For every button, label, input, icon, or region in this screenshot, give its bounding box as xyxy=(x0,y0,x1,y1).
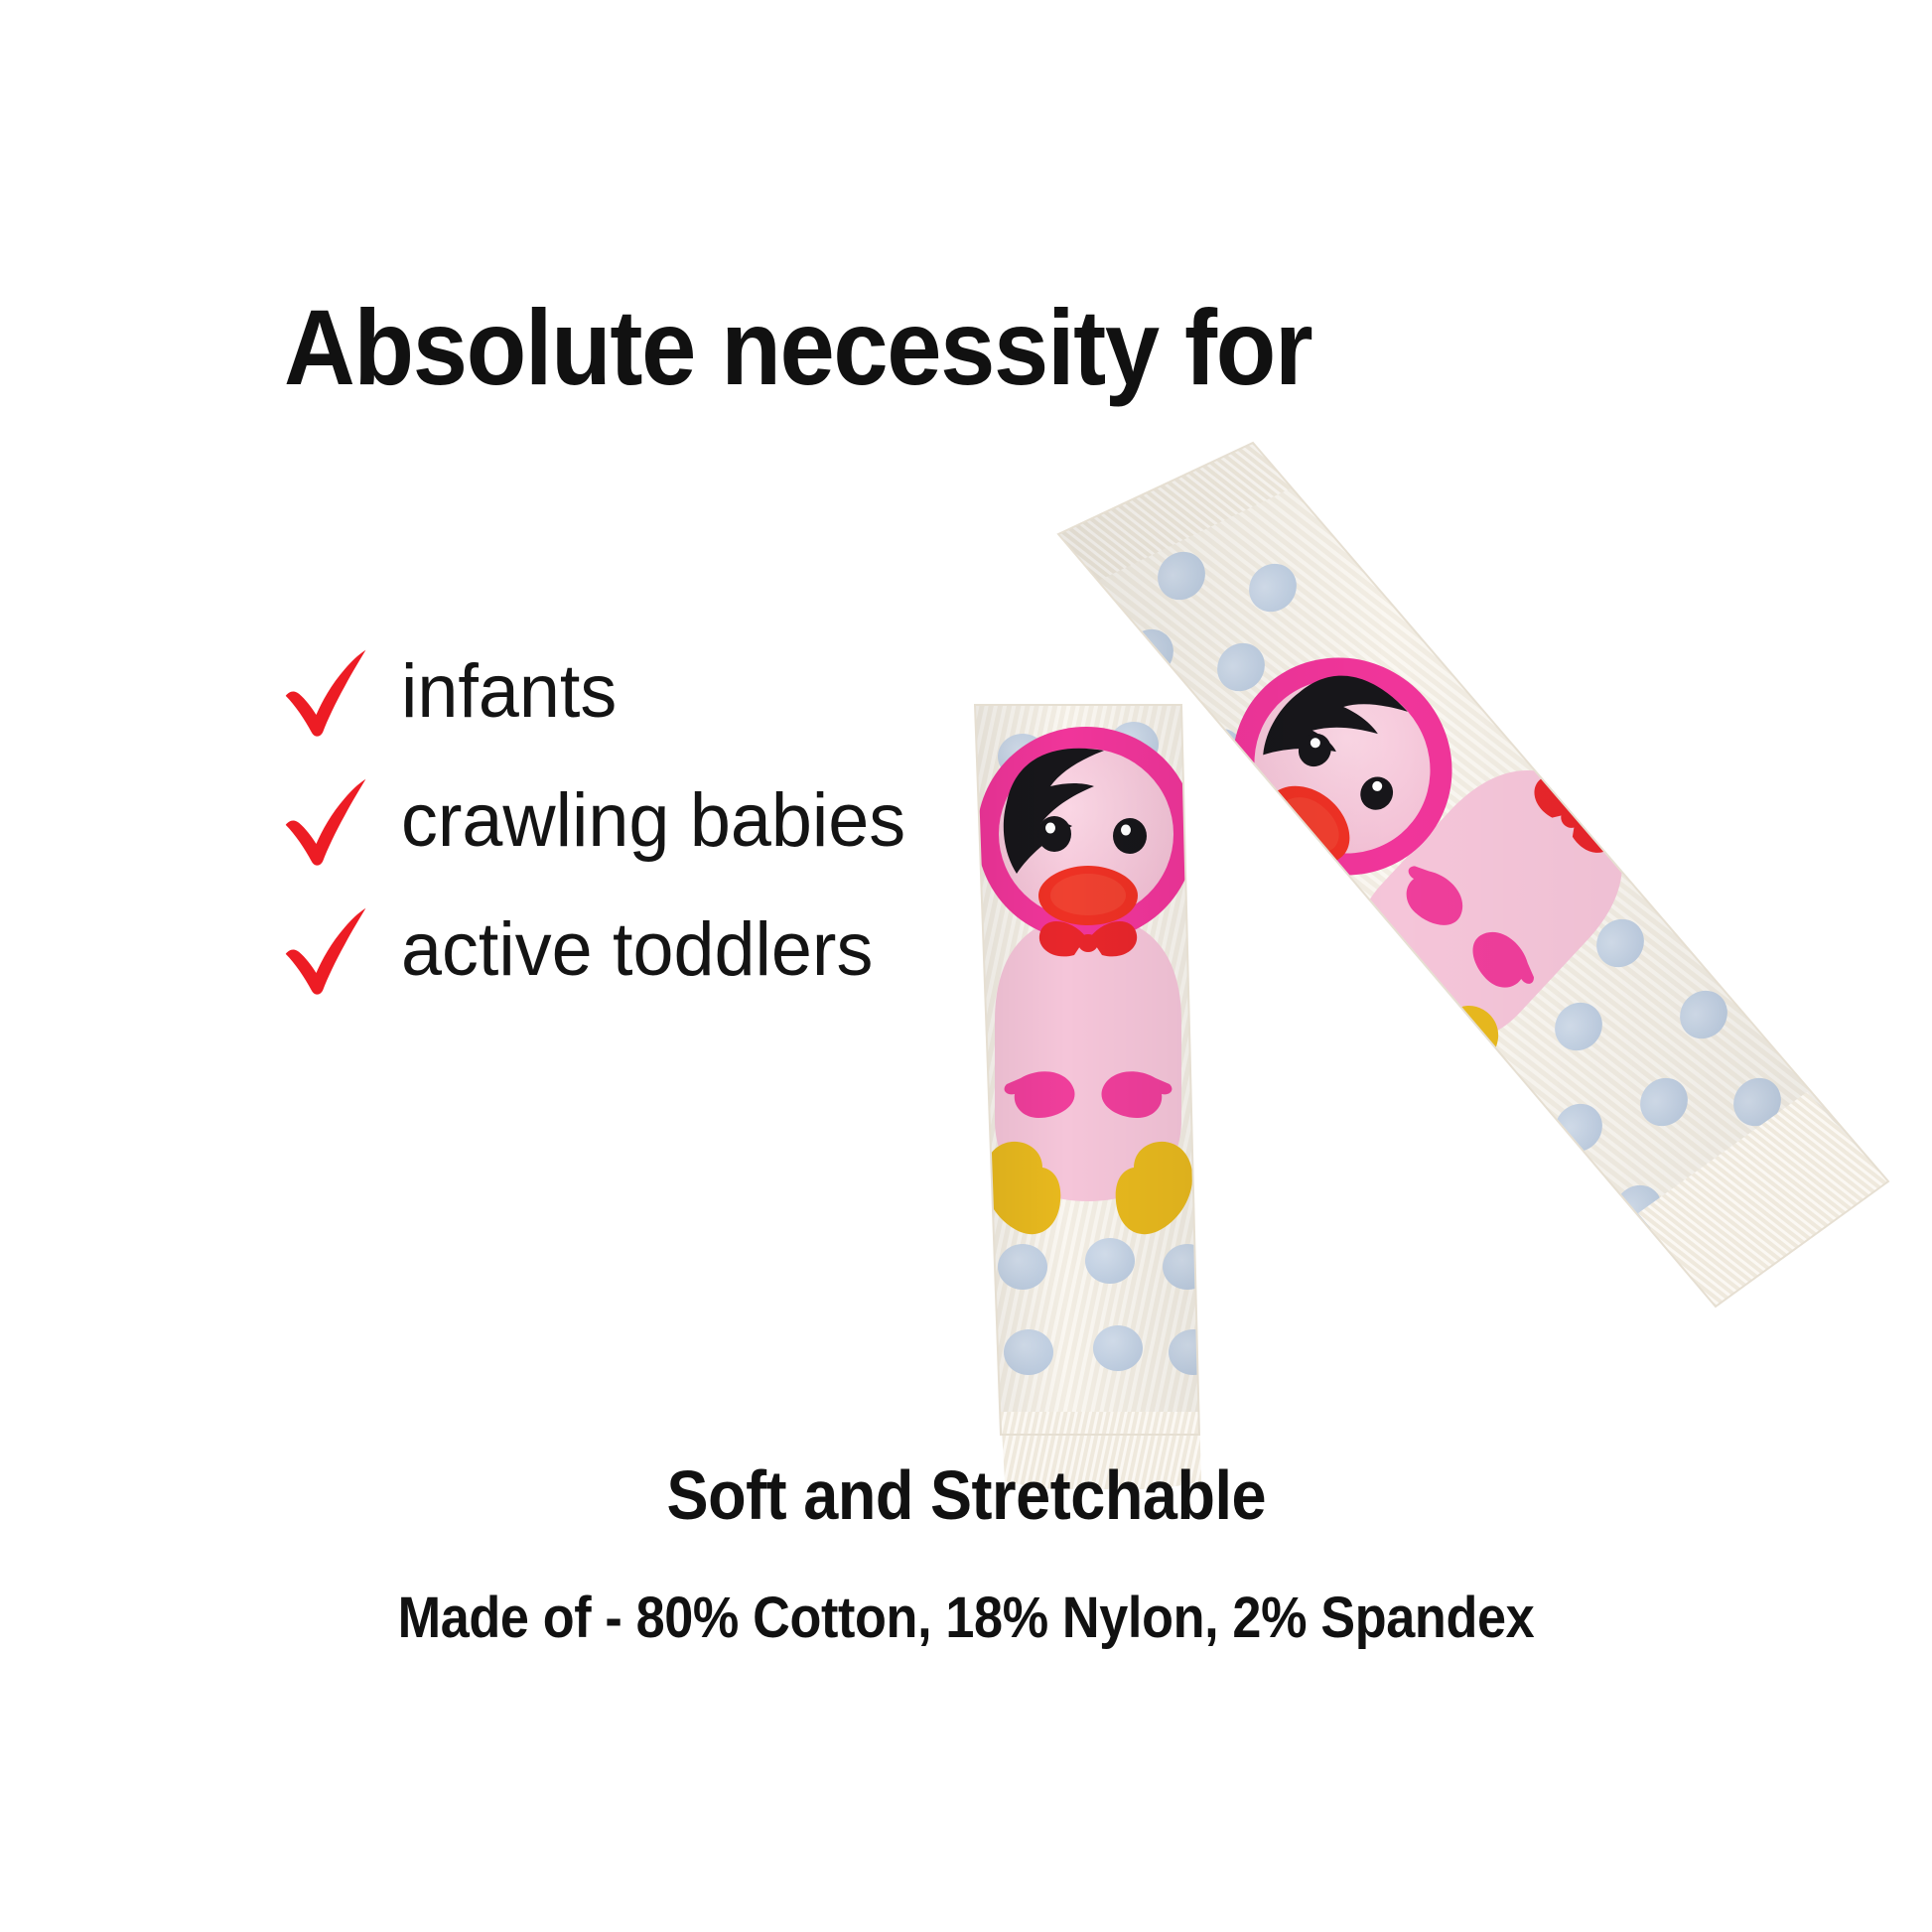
red-checkmark-icon xyxy=(280,902,375,998)
page-headline: Absolute necessity for xyxy=(284,294,1311,401)
tagline: Soft and Stretchable xyxy=(0,1455,1932,1535)
tagline-text: Soft and Stretchable xyxy=(666,1455,1266,1535)
material-composition: Made of - 80% Cotton, 18% Nylon, 2% Span… xyxy=(0,1585,1932,1651)
marketing-image-canvas: Absolute necessity for infants crawling … xyxy=(0,0,1932,1932)
red-checkmark-icon xyxy=(280,773,375,869)
benefit-label: active toddlers xyxy=(401,912,873,988)
benefit-label: crawling babies xyxy=(401,783,905,859)
red-checkmark-icon xyxy=(280,644,375,740)
leg-warmer-left-pattern xyxy=(963,695,1221,1449)
material-text: Made of - 80% Cotton, 18% Nylon, 2% Span… xyxy=(398,1585,1535,1651)
benefit-label: infants xyxy=(401,654,617,730)
product-photo-leg-warmers xyxy=(884,407,1932,1489)
leg-warmer-left xyxy=(963,695,1221,1489)
